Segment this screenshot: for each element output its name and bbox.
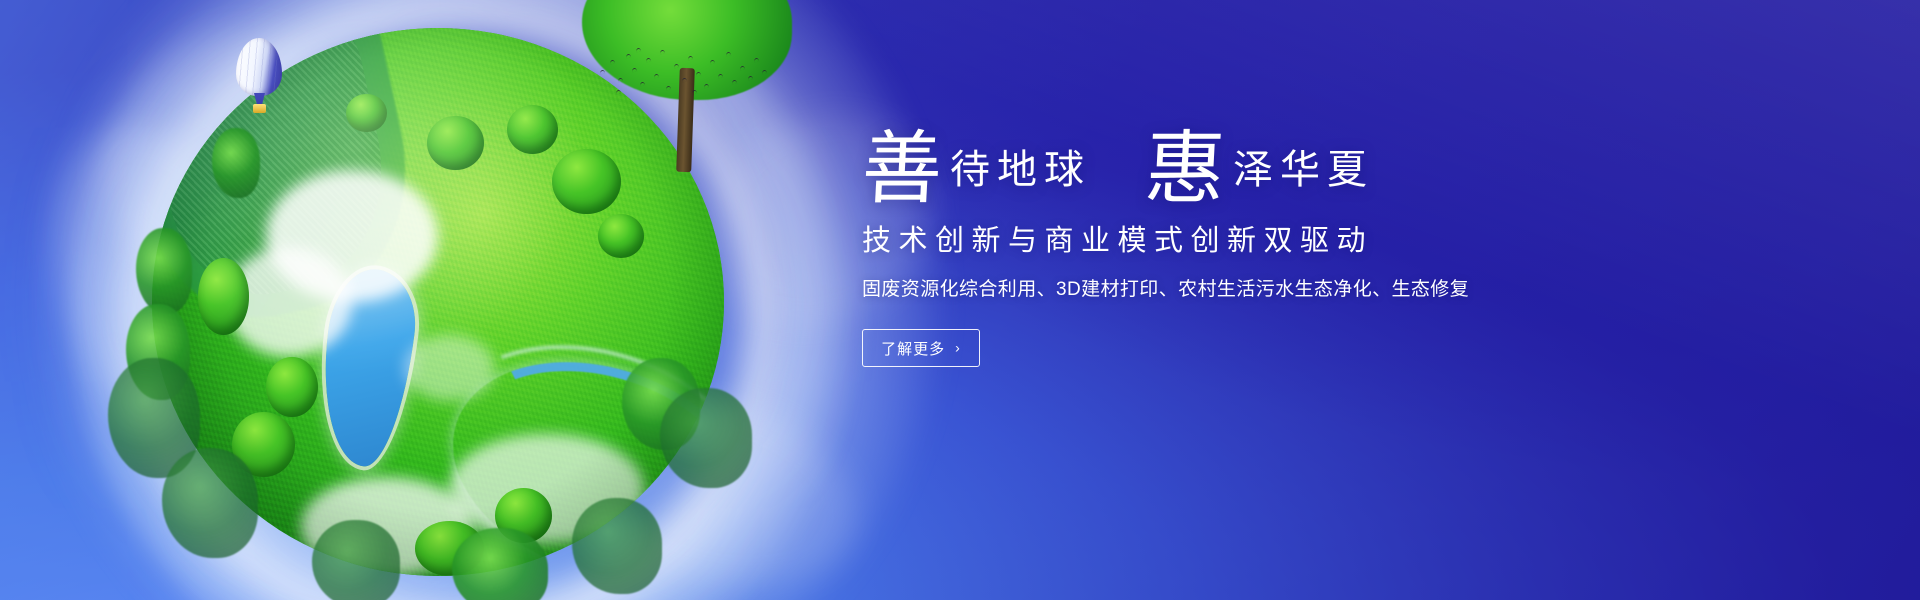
learn-more-button[interactable]: 了解更多 › (862, 329, 980, 367)
balloon-gores (236, 38, 282, 96)
hero-content: 善 待地球 惠 泽华夏 技术创新与商业模式创新双驱动 固废资源化综合利用、3D建… (862, 126, 1622, 367)
hero-banner: 善 待地球 惠 泽华夏 技术创新与商业模式创新双驱动 固废资源化综合利用、3D建… (0, 0, 1920, 600)
balloon-basket (253, 104, 266, 113)
bird-flock-icon (596, 44, 766, 96)
hot-air-balloon-icon (236, 38, 282, 120)
page-description: 固废资源化综合利用、3D建材打印、农村生活污水生态净化、生态修复 (862, 278, 1622, 303)
tree-icon (136, 228, 192, 314)
tree-icon (660, 388, 752, 488)
headline-part1-large: 善 (860, 132, 944, 206)
chevron-right-icon: › (955, 341, 961, 355)
learn-more-label: 了解更多 (881, 338, 945, 359)
headline-part2-large: 惠 (1143, 132, 1227, 206)
page-title: 善 待地球 惠 泽华夏 (862, 126, 1622, 200)
page-subtitle: 技术创新与商业模式创新双驱动 (862, 224, 1622, 259)
tree-icon (452, 528, 548, 600)
tree-icon (312, 520, 400, 600)
tree-icon (212, 128, 260, 198)
headline-part1-small: 待地球 (942, 150, 1091, 200)
tree-icon (572, 498, 662, 594)
headline-part2-small: 泽华夏 (1225, 150, 1374, 200)
tree-icon (162, 448, 258, 558)
